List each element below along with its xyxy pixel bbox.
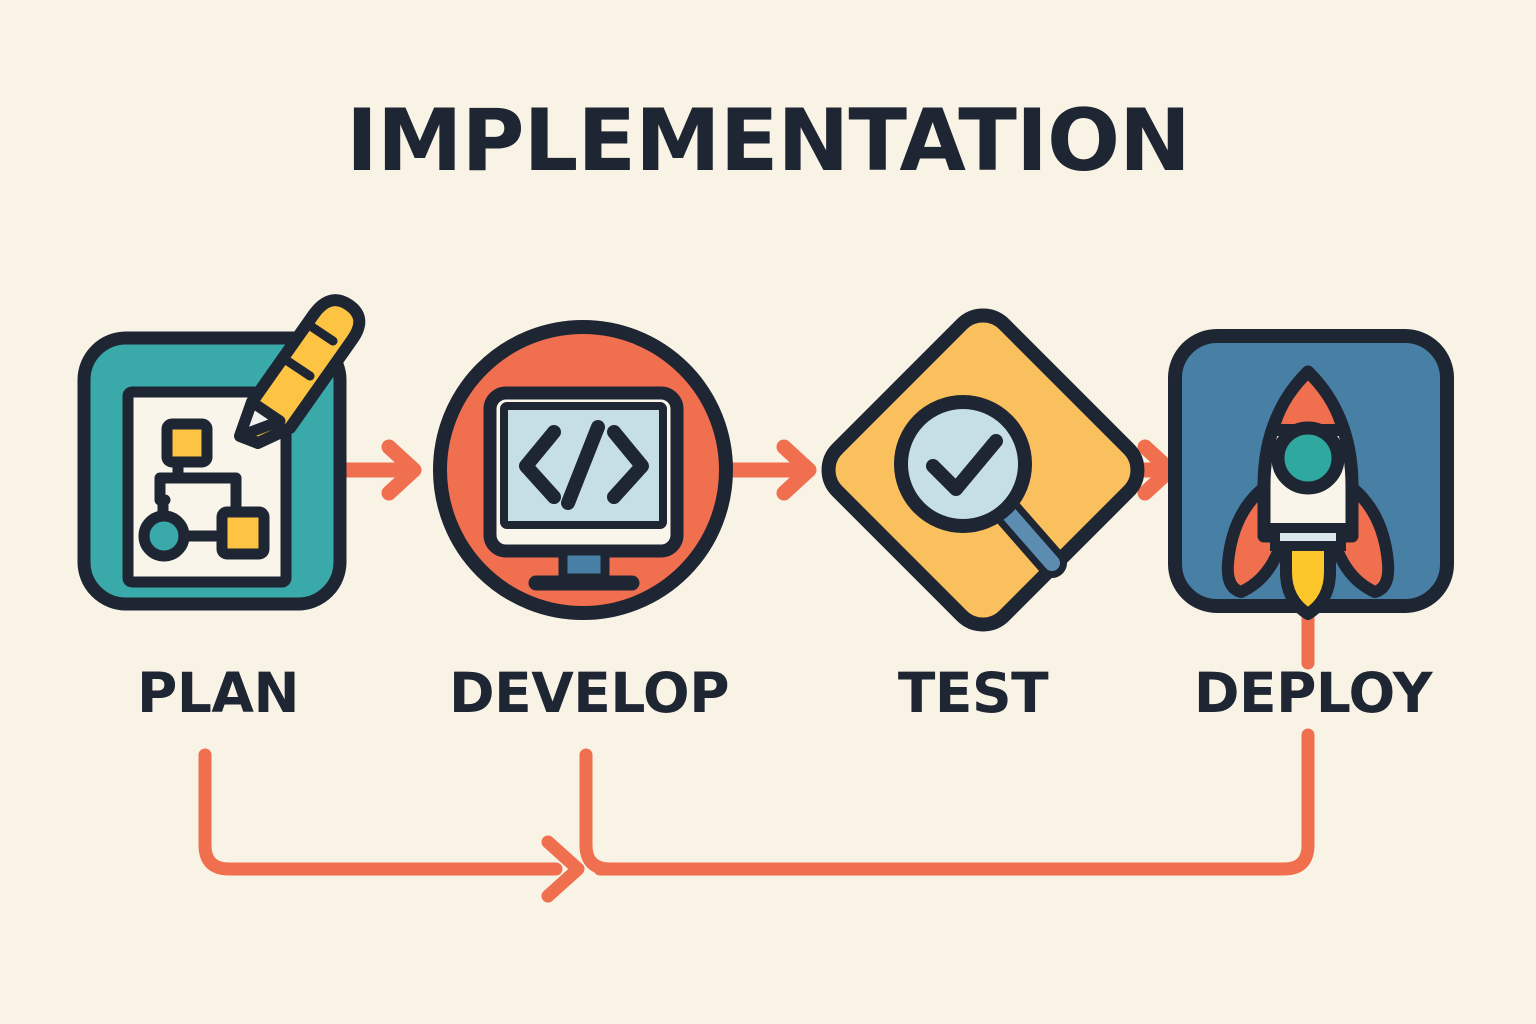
step-label-deploy: DEPLOY	[1194, 661, 1434, 725]
step-deploy[interactable]: DEPLOY	[1175, 336, 1447, 725]
step-label-test: TEST	[898, 661, 1049, 725]
diagram-canvas: IMPLEMENTATION	[0, 0, 1536, 1024]
page-title: IMPLEMENTATION	[346, 91, 1190, 191]
step-label-develop: DEVELOP	[449, 661, 729, 725]
rocket-band-icon	[1275, 528, 1341, 546]
implementation-flow-diagram: IMPLEMENTATION	[0, 0, 1536, 1024]
monitor-code-icon	[440, 327, 726, 613]
rocket-icon	[1175, 336, 1447, 614]
step-label-plan: PLAN	[137, 661, 299, 725]
plan-document-pencil-icon	[84, 300, 359, 604]
step-develop[interactable]: DEVELOP	[440, 327, 729, 725]
rocket-window-icon	[1278, 428, 1338, 488]
